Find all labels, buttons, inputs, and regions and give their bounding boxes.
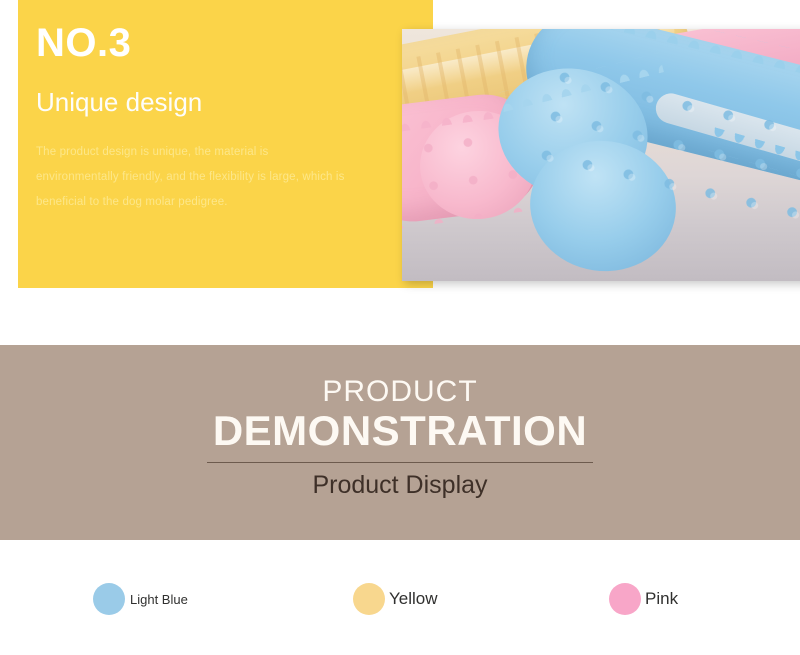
color-dot-icon	[609, 583, 641, 615]
product-photo-scene	[402, 29, 800, 281]
product-feature-section: NO.3 Unique design The product design is…	[0, 0, 800, 345]
color-swatch-yellow[interactable]: Yellow	[353, 583, 438, 615]
color-swatch-label: Pink	[645, 589, 678, 609]
feature-title: Unique design	[36, 88, 433, 117]
color-swatch-label: Yellow	[389, 589, 438, 609]
banner-subtitle: Product Display	[0, 472, 800, 500]
feature-number: NO.3	[36, 22, 433, 64]
banner-divider	[207, 462, 593, 463]
banner-heading: DEMONSTRATION	[0, 407, 800, 454]
color-swatch-light-blue[interactable]: Light Blue	[93, 583, 188, 615]
color-swatch-label: Light Blue	[130, 592, 188, 607]
banner-kicker: PRODUCT	[0, 377, 800, 407]
color-dot-icon	[353, 583, 385, 615]
product-demonstration-banner: PRODUCT DEMONSTRATION Product Display	[0, 345, 800, 540]
color-dot-icon	[93, 583, 125, 615]
feature-text-card: NO.3 Unique design The product design is…	[18, 0, 433, 288]
product-photo	[402, 29, 800, 281]
feature-description: The product design is unique, the materi…	[36, 140, 346, 216]
color-swatch-pink[interactable]: Pink	[609, 583, 678, 615]
color-swatch-row: Light Blue Yellow Pink	[0, 540, 800, 655]
